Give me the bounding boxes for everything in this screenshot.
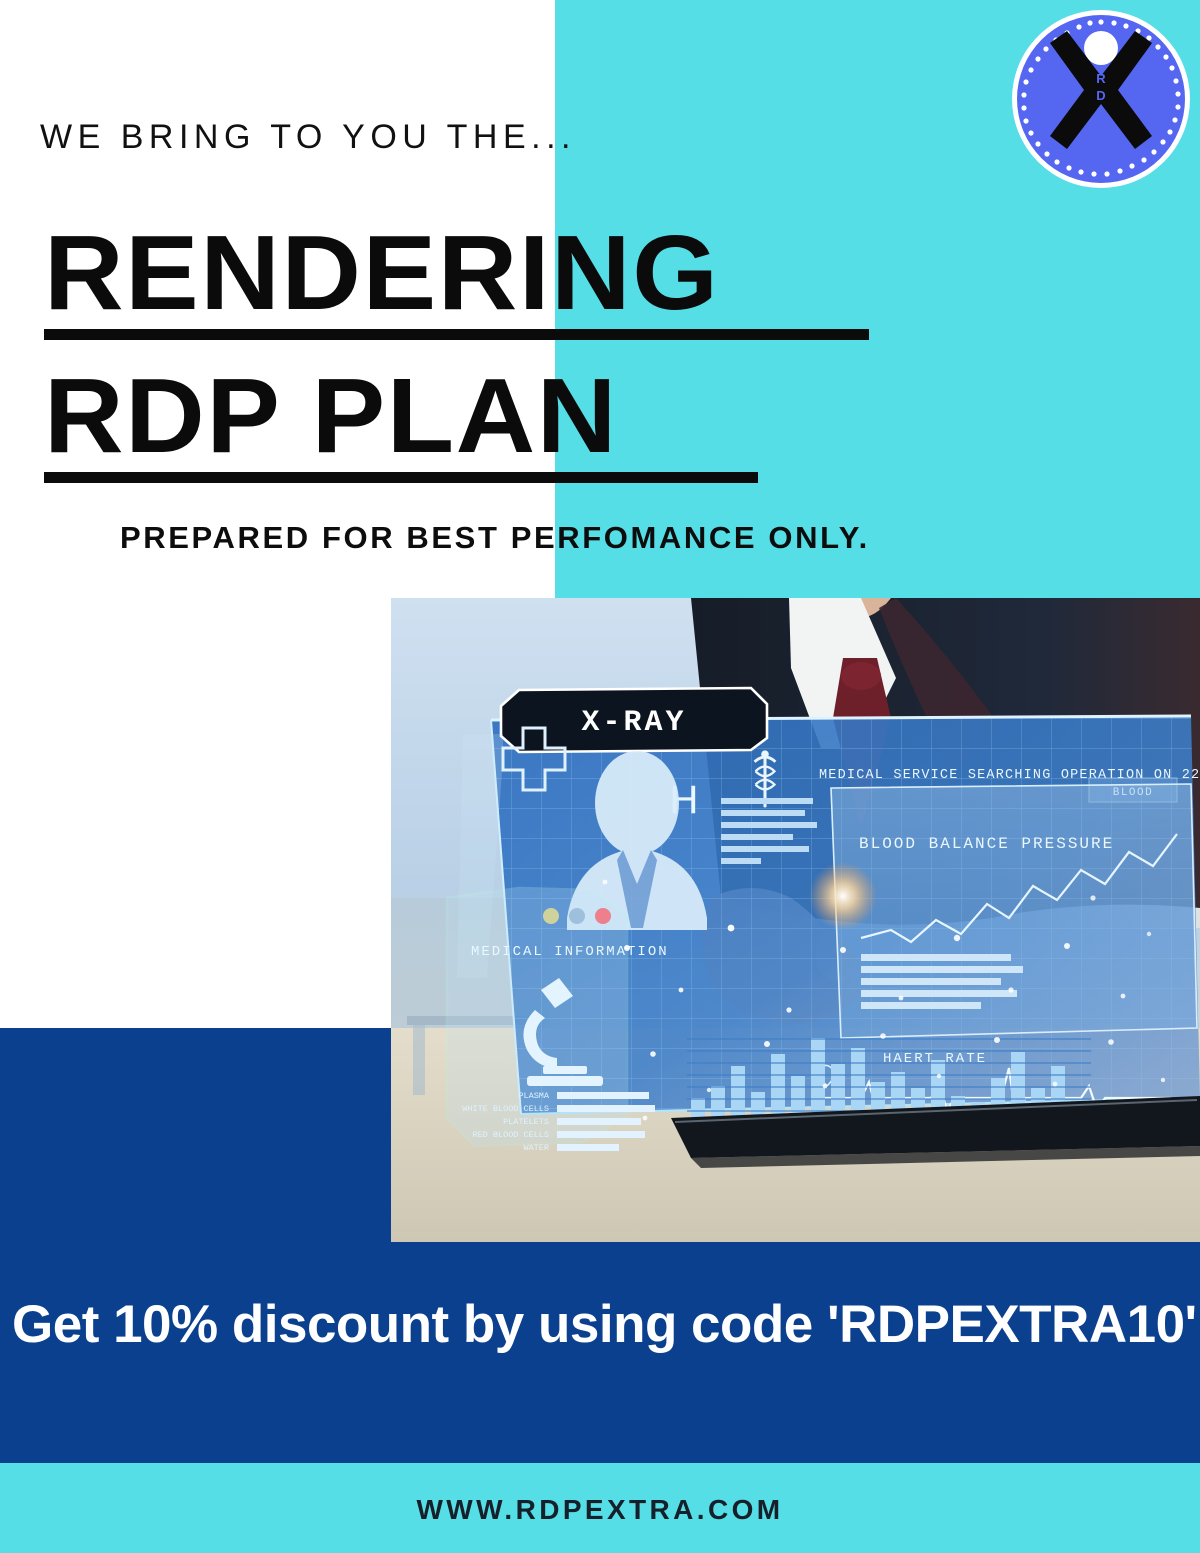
metric-label-red-blood-cells: RED BLOOD CELLS [472,1130,549,1140]
fingertip-glow [809,862,877,930]
xray-label: X-RAY [581,706,686,740]
blood-pressure-panel: BLOOD BALANCE PRESSURE [831,784,1197,1038]
medical-information-title: MEDICAL INFORMATION [471,944,669,960]
title-line-1: RENDERING [44,222,902,325]
metric-label-platelets: PLATELETS [503,1117,549,1127]
subtitle-text: PREPARED FOR BEST PERFOMANCE ONLY. [120,520,870,556]
hero-photo: X-RAY MEDICAL SERVICE SEARCHING OPERATIO… [391,598,1200,1242]
blood-pressure-title: BLOOD BALANCE PRESSURE [859,835,1114,853]
metric-label-water: WATER [523,1143,549,1153]
background-white-middle [0,598,391,1028]
brand-logo[interactable]: R D P [1010,8,1192,190]
footer-website[interactable]: WWW.RDPEXTRA.COM [0,1494,1200,1526]
logo-letter-r: R [1096,71,1106,86]
promo-text: Get 10% discount by using code 'RDPEXTRA… [12,1294,1192,1355]
metric-label-plasma: PLASMA [518,1091,550,1101]
table-leg [413,1025,425,1095]
page-title: RENDERING RDP PLAN [44,222,869,483]
metric-label-white-blood-cells: WHITE BLOOD CELLS [462,1104,549,1114]
status-dot-yellow [543,908,559,924]
kicker-text: WE BRING TO YOU THE... [40,118,576,157]
logo-dot [1084,31,1118,65]
logo-letter-p: P [1097,105,1106,120]
title-line-2: RDP PLAN [44,365,902,468]
status-dot-blue [569,908,585,924]
xray-tab: X-RAY [501,688,767,752]
logo-letter-d: D [1096,88,1105,103]
tie-knot [841,662,881,690]
status-dot-red [595,908,611,924]
poster-root: R D P WE BRING TO YOU THE... RENDERING R… [0,0,1200,1553]
